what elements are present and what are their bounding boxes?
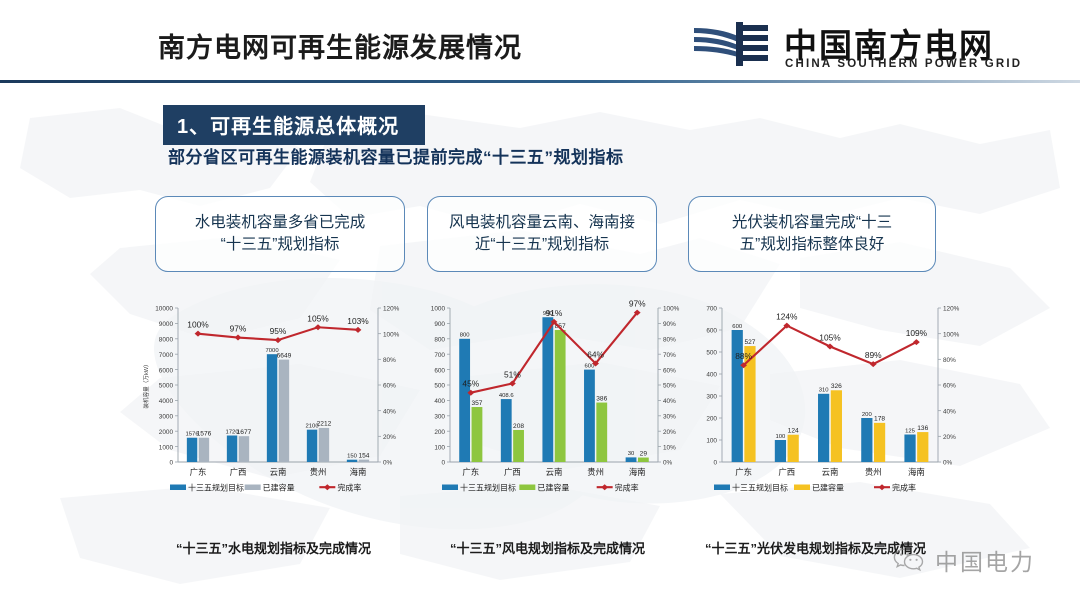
svg-text:广西: 广西 [230,467,247,477]
svg-text:300: 300 [706,394,717,401]
svg-text:100: 100 [776,434,787,440]
svg-text:208: 208 [513,423,524,430]
svg-text:海南: 海南 [350,467,367,477]
svg-text:300: 300 [434,414,445,421]
svg-text:广东: 广东 [735,467,752,477]
callout-wind: 风电装机容量云南、海南接 近“十三五”规划指标 [427,196,657,272]
svg-text:154: 154 [358,452,369,459]
section-subtitle: 部分省区可再生能源装机容量已提前完成“十三五”规划指标 [168,143,624,168]
svg-text:136: 136 [917,425,928,432]
svg-text:贵州: 贵州 [587,467,604,477]
svg-text:100: 100 [706,438,717,445]
svg-text:200: 200 [706,416,717,423]
svg-text:500: 500 [706,350,717,357]
svg-text:3000: 3000 [159,414,174,421]
svg-text:7000: 7000 [159,352,174,359]
svg-text:1677: 1677 [237,429,252,436]
svg-text:1000: 1000 [431,306,446,313]
svg-text:70%: 70% [663,352,676,359]
svg-text:8000: 8000 [159,337,174,344]
svg-text:900: 900 [434,321,445,328]
callout-solar-line1: 光伏装机容量完成“十三 [732,214,892,231]
svg-text:十三五规划目标: 十三五规划目标 [732,482,788,492]
svg-text:40%: 40% [663,398,676,405]
svg-text:贵州: 贵州 [310,467,327,477]
chart-wind-plot: 010020030040050060070080090010000%10%20%… [410,296,700,522]
svg-text:6649: 6649 [277,352,292,359]
logo-english-name: CHINA SOUTHERN POWER GRID [785,58,1022,70]
svg-text:6000: 6000 [159,367,174,374]
svg-text:45%: 45% [462,379,479,389]
svg-text:云南: 云南 [546,467,563,477]
svg-text:1000: 1000 [159,444,174,451]
page-title: 南方电网可再生能源发展情况 [158,26,522,65]
svg-text:10%: 10% [663,444,676,451]
callout-solar: 光伏装机容量完成“十三 五”规划指标整体良好 [688,196,936,272]
svg-text:125: 125 [905,428,916,434]
chart-hydro: 0100020003000400050006000700080009000100… [138,296,420,522]
svg-text:60%: 60% [663,367,676,374]
svg-text:109%: 109% [906,328,928,338]
svg-text:800: 800 [460,333,471,339]
svg-text:500: 500 [434,383,445,390]
callout-wind-line2: 近“十三五”规划指标 [475,236,609,253]
svg-text:64%: 64% [587,349,604,359]
svg-text:310: 310 [819,388,830,394]
svg-text:80%: 80% [663,337,676,344]
svg-text:十三五规划目标: 十三五规划目标 [188,482,244,492]
svg-text:100%: 100% [187,320,209,330]
svg-text:80%: 80% [383,357,396,364]
svg-text:广东: 广东 [462,467,479,477]
svg-text:90%: 90% [663,321,676,328]
svg-text:51%: 51% [504,369,521,379]
svg-text:600: 600 [434,367,445,374]
svg-text:已建容量: 已建容量 [812,482,844,492]
svg-text:124%: 124% [776,312,798,322]
svg-text:贵州: 贵州 [865,467,882,477]
svg-text:700: 700 [706,306,717,313]
wechat-watermark: 中国电力 [892,543,1035,577]
svg-text:178: 178 [874,416,885,423]
svg-text:9000: 9000 [159,321,174,328]
svg-text:97%: 97% [629,299,646,309]
svg-text:400: 400 [434,398,445,405]
svg-text:91%: 91% [546,308,563,318]
svg-text:0%: 0% [663,460,673,467]
svg-text:124: 124 [788,428,799,435]
svg-text:408.6: 408.6 [499,393,514,399]
svg-text:1576: 1576 [197,431,212,438]
chart-hydro-plot: 0100020003000400050006000700080009000100… [138,296,420,522]
svg-text:88%: 88% [735,351,752,361]
svg-text:2000: 2000 [159,429,174,436]
svg-text:广西: 广西 [504,467,521,477]
svg-text:100%: 100% [383,331,400,338]
wechat-icon [892,546,926,574]
callout-solar-line2: 五”规划指标整体良好 [740,236,885,253]
svg-text:十三五规划目标: 十三五规划目标 [460,482,516,492]
svg-text:100: 100 [434,444,445,451]
svg-text:60%: 60% [383,383,396,390]
wechat-watermark-text: 中国电力 [935,543,1035,577]
svg-text:100%: 100% [663,306,680,313]
svg-text:600: 600 [732,324,743,330]
svg-text:20%: 20% [663,429,676,436]
power-grid-mark-icon [692,22,770,66]
callout-hydro: 水电装机容量多省已完成 “十三五”规划指标 [155,196,405,272]
svg-text:800: 800 [434,337,445,344]
slide-root: 南方电网可再生能源发展情况 中国南方电网 CHINA SOUTHERN POWE… [0,0,1080,608]
callout-wind-line1: 风电装机容量云南、海南接 [449,214,635,231]
svg-text:4000: 4000 [159,398,174,405]
svg-text:20%: 20% [383,434,396,441]
svg-text:0%: 0% [383,460,393,467]
svg-text:40%: 40% [383,408,396,415]
svg-text:326: 326 [831,383,842,390]
svg-text:80%: 80% [943,357,956,364]
svg-text:完成率: 完成率 [892,482,916,492]
svg-text:50%: 50% [663,383,676,390]
svg-text:海南: 海南 [908,467,925,477]
section-tag: 1、可再生能源总体概况 [163,105,425,145]
svg-text:150: 150 [347,453,358,459]
caption-hydro: “十三五”水电规划指标及完成情况 [176,538,371,557]
slide-header: 南方电网可再生能源发展情况 中国南方电网 CHINA SOUTHERN POWE… [0,0,1080,80]
svg-text:海南: 海南 [629,467,646,477]
header-divider [0,80,1080,83]
svg-text:357: 357 [471,400,482,407]
company-logo: 中国南方电网 CHINA SOUTHERN POWER GRID [692,20,1044,72]
svg-text:200: 200 [434,429,445,436]
svg-text:105%: 105% [307,313,329,323]
svg-text:10000: 10000 [155,306,173,313]
svg-text:已建容量: 已建容量 [263,482,295,492]
chart-wind: 010020030040050060070080090010000%10%20%… [410,296,700,522]
svg-text:5000: 5000 [159,383,174,390]
svg-text:100%: 100% [943,331,960,338]
svg-text:0%: 0% [943,460,953,467]
svg-text:103%: 103% [347,316,369,326]
svg-text:完成率: 完成率 [337,482,361,492]
callout-hydro-line1: 水电装机容量多省已完成 [195,214,366,231]
svg-text:105%: 105% [819,333,841,343]
svg-text:400: 400 [706,372,717,379]
svg-text:30: 30 [628,451,635,457]
svg-text:29: 29 [640,450,648,457]
caption-wind: “十三五”风电规划指标及完成情况 [450,538,645,557]
svg-text:2212: 2212 [317,421,332,428]
svg-text:386: 386 [596,395,607,402]
svg-text:云南: 云南 [270,467,287,477]
svg-text:已建容量: 已建容量 [537,482,569,492]
svg-text:120%: 120% [943,306,960,313]
svg-text:装机容量（万kW）: 装机容量（万kW） [142,361,150,408]
svg-text:700: 700 [434,352,445,359]
svg-text:完成率: 完成率 [615,482,639,492]
svg-text:97%: 97% [230,324,247,334]
svg-text:60%: 60% [943,383,956,390]
svg-text:95%: 95% [270,326,287,336]
svg-text:89%: 89% [865,350,882,360]
svg-text:120%: 120% [383,306,400,313]
svg-text:0: 0 [441,460,445,467]
chart-solar-plot: 01002003004005006007000%20%40%60%80%100%… [682,296,980,522]
svg-text:527: 527 [744,339,755,346]
svg-text:0: 0 [713,460,717,467]
chart-solar: 01002003004005006007000%20%40%60%80%100%… [682,296,980,522]
svg-text:广西: 广西 [778,467,795,477]
svg-text:0: 0 [169,460,173,467]
svg-text:30%: 30% [663,414,676,421]
svg-text:200: 200 [862,412,873,418]
svg-text:广东: 广东 [190,467,207,477]
svg-text:云南: 云南 [822,467,839,477]
callout-hydro-line2: “十三五”规划指标 [221,236,340,253]
svg-text:40%: 40% [943,408,956,415]
svg-text:20%: 20% [943,434,956,441]
svg-text:600: 600 [706,328,717,335]
